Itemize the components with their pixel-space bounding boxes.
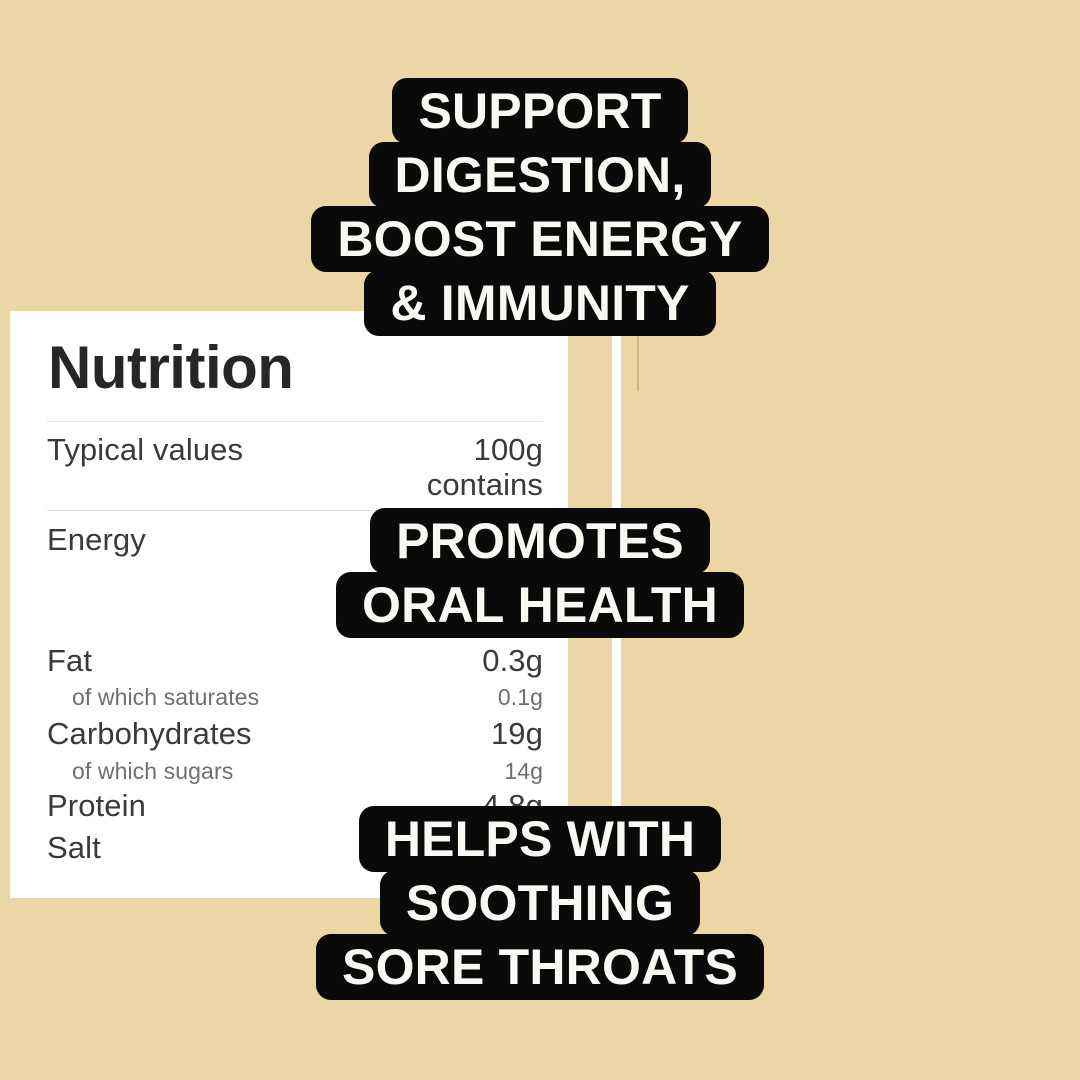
serving-size-value: 100g contains	[427, 433, 543, 502]
benefit-badge-sore-throats: HELPS WITH SOOTHING SORE THROATS	[0, 806, 1080, 1000]
nutrition-header-row: Typical values 100g contains	[47, 433, 543, 502]
sugars-label: of which sugars	[72, 759, 233, 785]
typical-values-label: Typical values	[47, 433, 243, 468]
nutrition-row-fat: Fat 0.3g	[47, 644, 543, 679]
fat-label: Fat	[47, 644, 92, 679]
badge-line: PROMOTES	[370, 508, 710, 574]
carbohydrates-label: Carbohydrates	[47, 717, 252, 752]
sugars-value: 14g	[504, 759, 543, 785]
nutrition-panel-title: Nutrition	[48, 338, 293, 398]
nutrition-divider-top	[47, 421, 543, 422]
carbohydrates-value: 19g	[491, 717, 543, 752]
saturates-label: of which saturates	[72, 685, 259, 711]
benefit-badge-oral-health: PROMOTES ORAL HEALTH	[0, 508, 1080, 638]
badge-line: BOOST ENERGY	[311, 206, 768, 272]
nutrition-row-saturates: of which saturates 0.1g	[72, 685, 543, 711]
vertical-accent-tick	[637, 327, 639, 391]
badge-line: DIGESTION,	[369, 142, 712, 208]
nutrition-row-sugars: of which sugars 14g	[72, 759, 543, 785]
benefit-badge-digestion-energy-immunity: SUPPORT DIGESTION, BOOST ENERGY & IMMUNI…	[0, 78, 1080, 336]
poster-canvas: Nutrition Typical values 100g contains E…	[0, 0, 1080, 1080]
badge-line: SOOTHING	[380, 870, 700, 936]
badge-line: SUPPORT	[392, 78, 687, 144]
saturates-value: 0.1g	[498, 685, 543, 711]
nutrition-row-carbohydrates: Carbohydrates 19g	[47, 717, 543, 752]
badge-line: SORE THROATS	[316, 934, 764, 1000]
badge-line: & IMMUNITY	[364, 270, 715, 336]
badge-line: ORAL HEALTH	[336, 572, 744, 638]
fat-value: 0.3g	[482, 644, 543, 679]
badge-line: HELPS WITH	[359, 806, 721, 872]
